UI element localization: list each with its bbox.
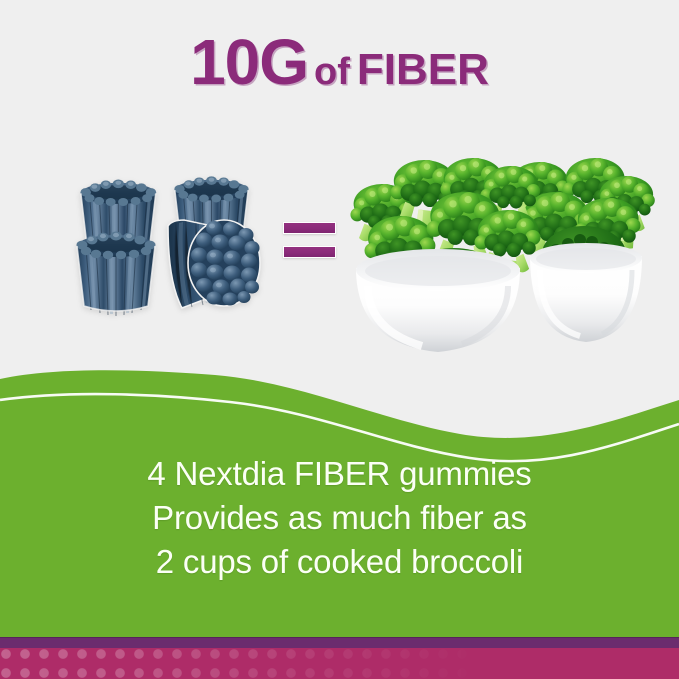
bottom-brand-band [0, 637, 679, 679]
fiber-gummies-cluster-icon [72, 170, 272, 340]
gummy-front-right-underside [168, 220, 260, 308]
headline-subject: FIBER [357, 45, 489, 94]
headline-connector: of [314, 51, 350, 93]
broccoli-bowls-icon [334, 158, 660, 354]
broccoli-bowl-left [350, 158, 540, 352]
message-line-3: 2 cups of cooked broccoli [0, 540, 679, 584]
halftone-dots-pattern [0, 648, 679, 679]
message-line-2: Provides as much fiber as [0, 496, 679, 540]
headline-amount: 10G [190, 26, 308, 98]
equals-bar-bottom [283, 246, 336, 258]
equals-bar-top [283, 222, 336, 234]
infographic-canvas: 10GofFIBER [0, 0, 679, 679]
purple-divider-strip [0, 637, 679, 648]
equation-row [0, 150, 679, 360]
message-block: 4 Nextdia FIBER gummies Provides as much… [0, 452, 679, 584]
page-title: 10GofFIBER [0, 30, 679, 94]
equals-sign-icon [283, 222, 336, 262]
band-top-hairline [0, 637, 679, 638]
gummy-front-left [77, 232, 156, 317]
message-line-1: 4 Nextdia FIBER gummies [0, 452, 679, 496]
